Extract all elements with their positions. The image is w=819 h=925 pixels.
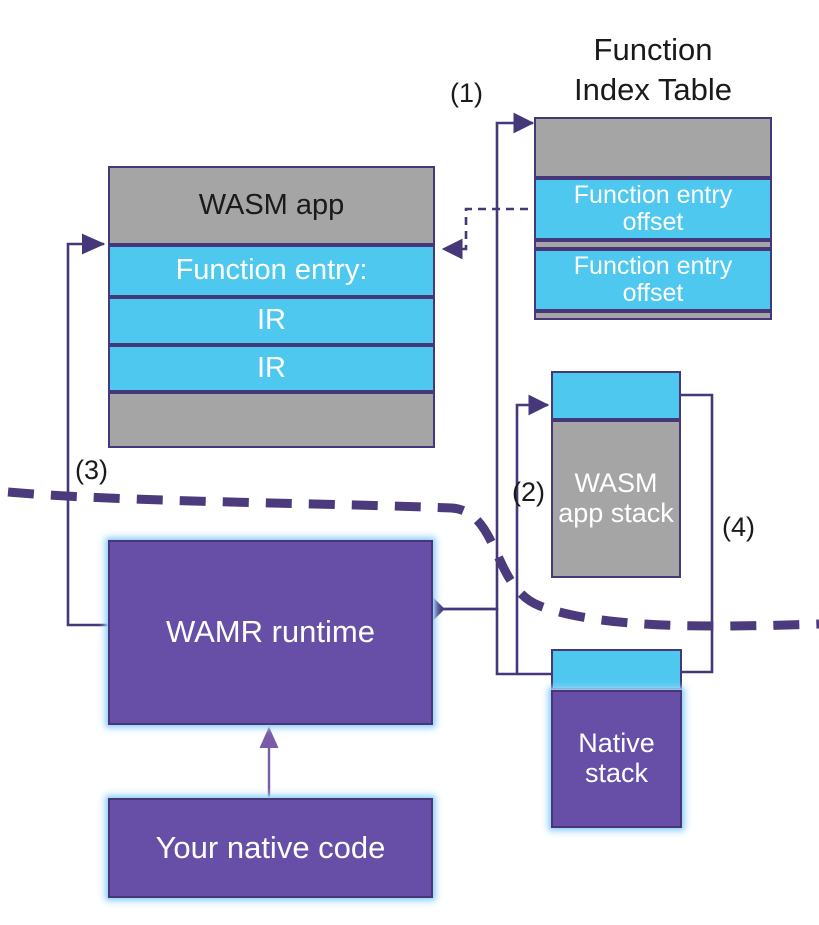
- fit-row-1: Function entry offset: [534, 178, 772, 240]
- connector-step-3: [68, 244, 108, 625]
- wasm-app-title: WASM app: [199, 190, 345, 222]
- wasm-app-stack-block: WASM app stack: [551, 371, 681, 578]
- step-label-4: (4): [722, 512, 755, 543]
- step-label-1: (1): [450, 78, 483, 109]
- fit-row-0: [534, 117, 772, 178]
- native-stack-label: Native stack: [578, 729, 655, 788]
- wasm-app-row-1: Function entry:: [108, 245, 435, 297]
- function-index-table: Function entry offset Function entry off…: [534, 117, 772, 319]
- step-label-2: (2): [512, 477, 545, 508]
- wasm-app-row-3: IR: [108, 345, 435, 392]
- fit-row-3: Function entry offset: [534, 249, 772, 311]
- connector-step-1: [432, 123, 533, 609]
- wasm-app-stack-body: WASM app stack: [551, 420, 681, 578]
- wasm-app-ir-label-2: IR: [257, 353, 286, 385]
- wasm-app-row-4: [108, 392, 435, 448]
- connector-step-2: [432, 405, 548, 674]
- native-stack-body: Native stack: [551, 690, 682, 828]
- wasm-app-stack-top: [551, 371, 681, 420]
- fit-row-3-label: Function entry offset: [574, 253, 732, 308]
- function-index-table-title: Function Index Table: [520, 30, 786, 111]
- native-stack-block: Native stack: [551, 649, 682, 828]
- wasm-app-stack-label: WASM app stack: [558, 469, 674, 528]
- fit-row-4: [534, 311, 772, 320]
- wasm-app-row-0: WASM app: [108, 166, 435, 245]
- diagram-canvas: Function Index Table Function entry offs…: [0, 0, 819, 925]
- wasm-app-function-entry-label: Function entry:: [176, 255, 368, 287]
- fit-row-1-label: Function entry offset: [574, 182, 732, 237]
- your-native-code-box: Your native code: [108, 798, 433, 898]
- fit-row-2: [534, 240, 772, 249]
- wamr-runtime-box: WAMR runtime: [108, 540, 433, 725]
- wasm-app-ir-label-1: IR: [257, 305, 286, 337]
- native-stack-top: [551, 649, 682, 690]
- your-native-code-label: Your native code: [156, 831, 386, 866]
- wasm-app-block: WASM app Function entry: IR IR: [108, 166, 435, 448]
- wasm-app-row-2: IR: [108, 297, 435, 345]
- wamr-runtime-label: WAMR runtime: [166, 615, 375, 650]
- step-label-3: (3): [75, 455, 108, 486]
